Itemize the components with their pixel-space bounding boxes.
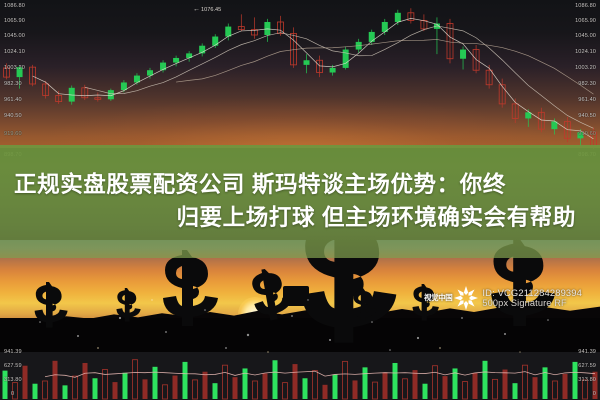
price-axis-right-4: 1003.20	[575, 65, 596, 71]
price-axis-right-0: 1086.80	[575, 3, 596, 9]
volume-axis-right-1: 627.59	[578, 363, 596, 369]
price-axis-left-2: 1045.00	[4, 33, 25, 39]
price-axis-left-7: 940.50	[4, 113, 22, 119]
watermark-id: ID: VCG211284289394	[482, 287, 582, 298]
price-axis-right-8: 919.60	[578, 131, 596, 137]
volume-bar-chart	[0, 352, 600, 400]
watermark-text: ID: VCG211284289394 500px Signature RF	[482, 287, 582, 309]
volume-axis-left-1: 627.59	[4, 363, 22, 369]
volume-axis-left-2: 313.80	[4, 377, 22, 383]
mid-gradient	[0, 258, 600, 278]
price-axis-left-4: 1003.20	[4, 65, 25, 71]
price-axis-right-6: 961.40	[578, 97, 596, 103]
starburst-icon	[453, 285, 479, 311]
price-axis-left-3: 1024.10	[4, 49, 25, 55]
price-axis-right-3: 1024.10	[575, 49, 596, 55]
volume-axis-left-0: 941.39	[4, 349, 22, 355]
headline-line-2: 归要上场打球 但主场环境确实会有帮助	[14, 202, 586, 235]
volume-axis-right-2: 313.80	[578, 377, 596, 383]
headline-text: 正规实盘股票配资公司 斯玛特谈主场优势：你终 归要上场打球 但主场环境确实会有帮…	[0, 148, 600, 256]
price-axis-right-7: 940.50	[578, 113, 596, 119]
price-axis-right-2: 1045.00	[575, 33, 596, 39]
left-arrow-icon: ←	[193, 6, 200, 13]
volume-axis-right-0: 941.39	[578, 349, 596, 355]
price-annotation: ← 1076.45	[193, 6, 221, 13]
price-axis-right-1: 1065.90	[575, 18, 596, 24]
price-annotation-value: 1076.45	[201, 7, 221, 13]
price-axis-left-6: 961.40	[4, 97, 22, 103]
price-axis-left-1: 1065.90	[4, 18, 25, 24]
watermark-signature: 500px Signature RF	[482, 298, 582, 309]
volume-axis-right-3: 0	[593, 391, 596, 397]
price-candlestick-chart	[0, 0, 600, 150]
price-axis-left-0: 1086.80	[4, 3, 25, 9]
watermark-logo-label: 视觉中国	[424, 294, 452, 302]
price-axis-right-5: 982.30	[578, 81, 596, 87]
headline-line-1: 正规实盘股票配资公司 斯玛特谈主场优势：你终	[14, 169, 586, 202]
news-banner-image: 1086.80 1065.90 1045.00 1024.10 1003.20 …	[0, 0, 600, 400]
price-axis-left-8: 919.60	[4, 131, 22, 137]
watermark: 视觉中国 ID: VCG211284289394	[424, 278, 596, 318]
watermark-logo: 视觉中国	[424, 285, 479, 311]
volume-axis-left-3: 0	[11, 391, 14, 397]
price-axis-left-5: 982.30	[4, 81, 22, 87]
